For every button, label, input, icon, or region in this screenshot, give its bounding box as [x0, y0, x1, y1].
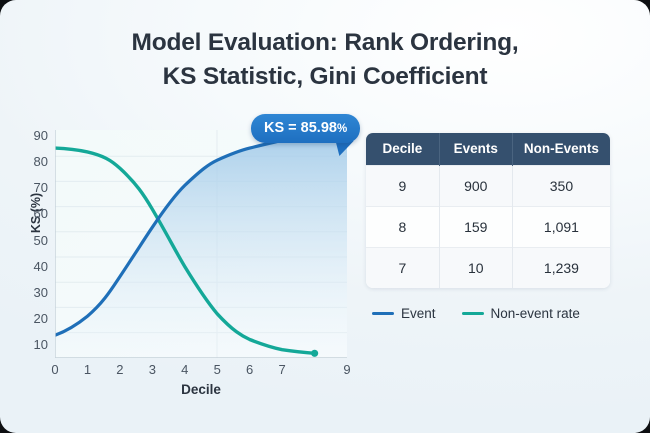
table-row: 7 10 1,239 — [366, 248, 610, 289]
y-axis-tick-label: 40 — [18, 260, 48, 273]
x-axis-tick-label: 5 — [206, 362, 228, 377]
non-event-end-marker — [311, 350, 318, 357]
x-axis-tick-label: 9 — [336, 362, 358, 377]
legend-label: Event — [401, 306, 436, 321]
cell-decile: 9 — [366, 166, 439, 207]
cell-decile: 8 — [366, 207, 439, 248]
x-axis-tick-label: 7 — [271, 362, 293, 377]
x-axis-tick-label: 6 — [239, 362, 261, 377]
cell-events: 159 — [439, 207, 512, 248]
cell-events: 10 — [439, 248, 512, 289]
column-header-decile: Decile — [366, 133, 439, 166]
ks-chart: KS (%) 102030405060708090 — [0, 110, 360, 400]
x-axis-tick-label: 3 — [141, 362, 163, 377]
x-axis-tick-label: 0 — [44, 362, 66, 377]
ks-badge-tail — [332, 141, 353, 156]
table-header-row: Decile Events Non-Events — [366, 133, 610, 166]
y-axis-tick-label: 80 — [18, 155, 48, 168]
legend-label: Non-event rate — [491, 306, 580, 321]
x-axis-label: Decile — [55, 382, 347, 397]
legend-swatch-icon — [372, 312, 394, 316]
cell-non-events: 1,091 — [512, 207, 610, 248]
legend-item-non-event-rate: Non-event rate — [462, 306, 580, 321]
x-axis-tick-label: 2 — [109, 362, 131, 377]
y-axis-ticks: 102030405060708090 — [16, 130, 48, 358]
y-axis-tick-label: 50 — [18, 234, 48, 247]
decile-table: Decile Events Non-Events 9 900 350 8 159… — [366, 133, 610, 288]
y-axis-tick-label: 70 — [18, 181, 48, 194]
chart-svg — [55, 130, 347, 358]
column-header-events: Events — [439, 133, 512, 166]
ks-statistic-badge: KS = 85.98% — [251, 114, 360, 143]
cell-decile: 7 — [366, 248, 439, 289]
x-axis-ticks: 012345679 — [55, 362, 347, 380]
y-axis-tick-label: 60 — [18, 207, 48, 220]
column-header-non-events: Non-Events — [512, 133, 610, 166]
cell-non-events: 1,239 — [512, 248, 610, 289]
ks-badge-percent-sign: % — [337, 123, 347, 135]
ks-badge-value: KS = 85.98 — [264, 120, 337, 136]
x-axis-tick-label: 4 — [174, 362, 196, 377]
cell-non-events: 350 — [512, 166, 610, 207]
x-axis-tick-label: 1 — [76, 362, 98, 377]
page-title-line-1: Model Evaluation: Rank Ordering, — [131, 29, 518, 56]
chart-legend: Event Non-event rate — [372, 306, 580, 321]
table-row: 9 900 350 — [366, 166, 610, 207]
plot-area — [55, 130, 347, 358]
legend-swatch-icon — [462, 312, 484, 316]
chart-card: Model Evaluation: Rank Ordering, KS Stat… — [0, 0, 650, 433]
y-axis-tick-label: 10 — [18, 338, 48, 351]
table-row: 8 159 1,091 — [366, 207, 610, 248]
cell-events: 900 — [439, 166, 512, 207]
legend-item-event: Event — [372, 306, 436, 321]
page-title-line-2: KS Statistic, Gini Coefficient — [0, 60, 650, 94]
y-axis-tick-label: 20 — [18, 312, 48, 325]
y-axis-tick-label: 30 — [18, 286, 48, 299]
y-axis-tick-label: 90 — [18, 129, 48, 142]
page-title: Model Evaluation: Rank Ordering, KS Stat… — [0, 26, 650, 94]
